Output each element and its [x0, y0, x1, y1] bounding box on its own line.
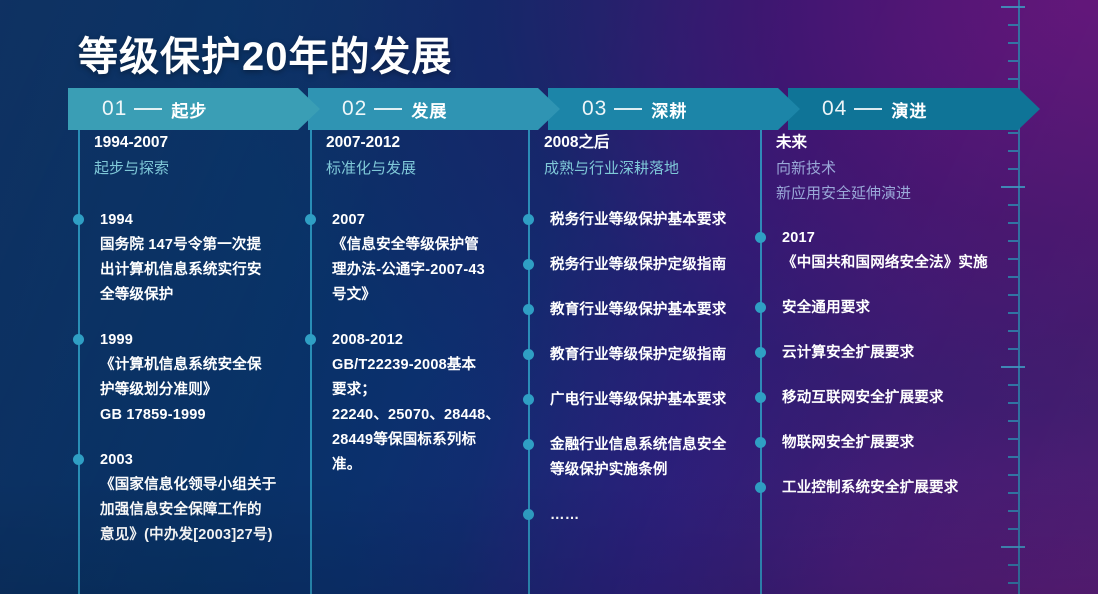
list-item-line: 《国家信息化领导小组关于 — [100, 473, 323, 498]
step-number: 04 — [822, 97, 847, 121]
ruler-tick-minor — [1008, 492, 1018, 494]
column-subtitle: 新应用安全延伸演进 — [776, 181, 1006, 206]
ruler-tick-minor — [1008, 420, 1018, 422]
column-header: 2008之后成熟与行业深耕落地 — [544, 130, 774, 181]
list-item[interactable]: 税务行业等级保护定级指南 — [528, 253, 773, 278]
column-period: 2008之后 — [544, 130, 774, 156]
step-arrow-01[interactable]: 01起步 — [68, 88, 320, 130]
list-item[interactable]: 物联网安全扩展要求 — [760, 431, 1005, 456]
list-item-line: 意见》(中办发[2003]27号) — [100, 523, 323, 548]
list-item-line: 2007 — [332, 208, 555, 233]
bullet-dot-icon — [755, 482, 766, 493]
list-item[interactable]: 教育行业等级保护基本要求 — [528, 298, 773, 323]
ruler-tick-minor — [1008, 132, 1018, 134]
ruler-tick-minor — [1008, 384, 1018, 386]
list-item[interactable]: 云计算安全扩展要求 — [760, 341, 1005, 366]
ruler-tick-minor — [1008, 78, 1018, 80]
bullet-dot-icon — [523, 214, 534, 225]
list-item-line: 云计算安全扩展要求 — [782, 341, 1005, 366]
ruler-tick-minor — [1008, 312, 1018, 314]
ruler-tick-minor — [1008, 348, 1018, 350]
ruler-tick-minor — [1008, 42, 1018, 44]
ruler-tick-major — [1001, 546, 1025, 548]
step-dash-icon — [614, 108, 642, 110]
list-item-line: 准。 — [332, 453, 555, 478]
bullet-dot-icon — [523, 304, 534, 315]
ruler-tick-minor — [1008, 24, 1018, 26]
list-item-line: 税务行业等级保护基本要求 — [550, 208, 773, 233]
ruler-tick-major — [1001, 366, 1025, 368]
ruler-tick-minor — [1008, 294, 1018, 296]
list-item-line: 22240、25070、28448、 — [332, 403, 555, 428]
step-dash-icon — [374, 108, 402, 110]
list-item[interactable]: 安全通用要求 — [760, 296, 1005, 321]
list-item-line: 教育行业等级保护定级指南 — [550, 343, 773, 368]
step-arrow-04[interactable]: 04演进 — [788, 88, 1040, 130]
bullet-dot-icon — [523, 509, 534, 520]
list-item-line: 教育行业等级保护基本要求 — [550, 298, 773, 323]
bullet-dot-icon — [305, 214, 316, 225]
list-item-line: 理办法-公通字-2007-43 — [332, 258, 555, 283]
ruler-tick-minor — [1008, 168, 1018, 170]
list-item-line: 28449等保国标系列标 — [332, 428, 555, 453]
column-period: 未来 — [776, 130, 1006, 156]
list-item-line: 金融行业信息系统信息安全 — [550, 433, 773, 458]
ruler-tick-minor — [1008, 60, 1018, 62]
list-item[interactable]: 工业控制系统安全扩展要求 — [760, 476, 1005, 501]
step-dash-icon — [854, 108, 882, 110]
list-item-line: 《计算机信息系统安全保 — [100, 353, 323, 378]
ruler-tick-minor — [1008, 276, 1018, 278]
ruler-tick-minor — [1008, 528, 1018, 530]
bullet-dot-icon — [755, 347, 766, 358]
list-item-line: 2008-2012 — [332, 328, 555, 353]
bullet-dot-icon — [73, 334, 84, 345]
column-subtitle: 向新技术 — [776, 156, 1006, 181]
list-item-line: …… — [550, 503, 773, 528]
bullet-dot-icon — [755, 232, 766, 243]
ruler-tick-minor — [1008, 510, 1018, 512]
list-item-line: 号文》 — [332, 283, 555, 308]
list-item-line: 全等级保护 — [100, 283, 323, 308]
list-item[interactable]: 2003《国家信息化领导小组关于加强信息安全保障工作的意见》(中办发[2003]… — [78, 448, 323, 548]
list-item[interactable]: 金融行业信息系统信息安全等级保护实施条例 — [528, 433, 773, 483]
column-header: 1994-2007起步与探索 — [94, 130, 324, 181]
bullet-dot-icon — [73, 214, 84, 225]
bullet-dot-icon — [305, 334, 316, 345]
list-item[interactable]: 移动互联网安全扩展要求 — [760, 386, 1005, 411]
list-item-line: 移动互联网安全扩展要求 — [782, 386, 1005, 411]
step-number: 02 — [342, 97, 367, 121]
column-item-list: 税务行业等级保护基本要求税务行业等级保护定级指南教育行业等级保护基本要求教育行业… — [528, 208, 773, 548]
ruler-tick-minor — [1008, 564, 1018, 566]
list-item-line: 工业控制系统安全扩展要求 — [782, 476, 1005, 501]
page-title: 等级保护20年的发展 — [78, 24, 453, 82]
column-subtitle: 起步与探索 — [94, 156, 324, 181]
ruler-tick-minor — [1008, 402, 1018, 404]
ruler-tick-minor — [1008, 330, 1018, 332]
list-item-line: 1999 — [100, 328, 323, 353]
list-item-line: 税务行业等级保护定级指南 — [550, 253, 773, 278]
column-subtitle: 成熟与行业深耕落地 — [544, 156, 774, 181]
bullet-dot-icon — [523, 349, 534, 360]
list-item-line: 2003 — [100, 448, 323, 473]
ruler-tick-minor — [1008, 258, 1018, 260]
list-item[interactable]: 税务行业等级保护基本要求 — [528, 208, 773, 233]
ruler-tick-major — [1001, 186, 1025, 188]
step-number: 03 — [582, 97, 607, 121]
step-number: 01 — [102, 97, 127, 121]
list-item-line: 要求； — [332, 378, 555, 403]
bullet-dot-icon — [523, 394, 534, 405]
column-item-list: 1994国务院 147号令第一次提出计算机信息系统实行安全等级保护1999《计算… — [78, 208, 323, 568]
step-name: 起步 — [171, 97, 207, 122]
bullet-dot-icon — [73, 454, 84, 465]
step-dash-icon — [134, 108, 162, 110]
list-item-line: 国务院 147号令第一次提 — [100, 233, 323, 258]
ruler-tick-minor — [1008, 240, 1018, 242]
column-item-list: 2017《中国共和国网络安全法》实施安全通用要求云计算安全扩展要求移动互联网安全… — [760, 226, 1005, 521]
list-item-line: GB/T22239-2008基本 — [332, 353, 555, 378]
ruler-tick-major — [1001, 6, 1025, 8]
list-item-line: 《中国共和国网络安全法》实施 — [782, 251, 1005, 276]
list-item[interactable]: 教育行业等级保护定级指南 — [528, 343, 773, 368]
list-item-line: 等级保护实施条例 — [550, 458, 773, 483]
column-period: 1994-2007 — [94, 130, 324, 156]
ruler-tick-minor — [1008, 474, 1018, 476]
list-item[interactable]: 2017《中国共和国网络安全法》实施 — [760, 226, 1005, 276]
list-item[interactable]: 1999《计算机信息系统安全保护等级划分准则》GB 17859-1999 — [78, 328, 323, 428]
slide-canvas: 等级保护20年的发展 01起步02发展03深耕04演进 1994-2007起步与… — [0, 0, 1098, 594]
list-item[interactable]: 广电行业等级保护基本要求 — [528, 388, 773, 413]
bullet-dot-icon — [523, 439, 534, 450]
ruler-tick-minor — [1008, 204, 1018, 206]
list-item-line: 出计算机信息系统实行安 — [100, 258, 323, 283]
list-item-line: 1994 — [100, 208, 323, 233]
step-name: 演进 — [891, 97, 927, 122]
column-item-list: 2007《信息安全等级保护管理办法-公通字-2007-43号文》2008-201… — [310, 208, 555, 498]
list-item[interactable]: 1994国务院 147号令第一次提出计算机信息系统实行安全等级保护 — [78, 208, 323, 308]
bullet-dot-icon — [755, 392, 766, 403]
ruler-tick-minor — [1008, 150, 1018, 152]
list-item[interactable]: …… — [528, 503, 773, 528]
list-item-line: GB 17859-1999 — [100, 403, 323, 428]
list-item-line: 《信息安全等级保护管 — [332, 233, 555, 258]
bullet-dot-icon — [755, 437, 766, 448]
column-header: 未来向新技术新应用安全延伸演进 — [776, 130, 1006, 206]
list-item-line: 安全通用要求 — [782, 296, 1005, 321]
step-arrow-03[interactable]: 03深耕 — [548, 88, 800, 130]
list-item[interactable]: 2007《信息安全等级保护管理办法-公通字-2007-43号文》 — [310, 208, 555, 308]
list-item[interactable]: 2008-2012GB/T22239-2008基本要求；22240、25070、… — [310, 328, 555, 478]
step-name: 深耕 — [651, 97, 687, 122]
step-name: 发展 — [411, 97, 447, 122]
list-item-line: 广电行业等级保护基本要求 — [550, 388, 773, 413]
list-item-line: 护等级划分准则》 — [100, 378, 323, 403]
column-subtitle: 标准化与发展 — [326, 156, 556, 181]
ruler-tick-minor — [1008, 438, 1018, 440]
ruler-tick-minor — [1008, 456, 1018, 458]
bullet-dot-icon — [523, 259, 534, 270]
bullet-dot-icon — [755, 302, 766, 313]
column-period: 2007-2012 — [326, 130, 556, 156]
ruler-tick-minor — [1008, 582, 1018, 584]
list-item-line: 物联网安全扩展要求 — [782, 431, 1005, 456]
step-arrow-bar: 01起步02发展03深耕04演进 — [68, 88, 1028, 130]
column-header: 2007-2012标准化与发展 — [326, 130, 556, 181]
list-item-line: 2017 — [782, 226, 1005, 251]
list-item-line: 加强信息安全保障工作的 — [100, 498, 323, 523]
step-arrow-02[interactable]: 02发展 — [308, 88, 560, 130]
ruler-tick-minor — [1008, 222, 1018, 224]
